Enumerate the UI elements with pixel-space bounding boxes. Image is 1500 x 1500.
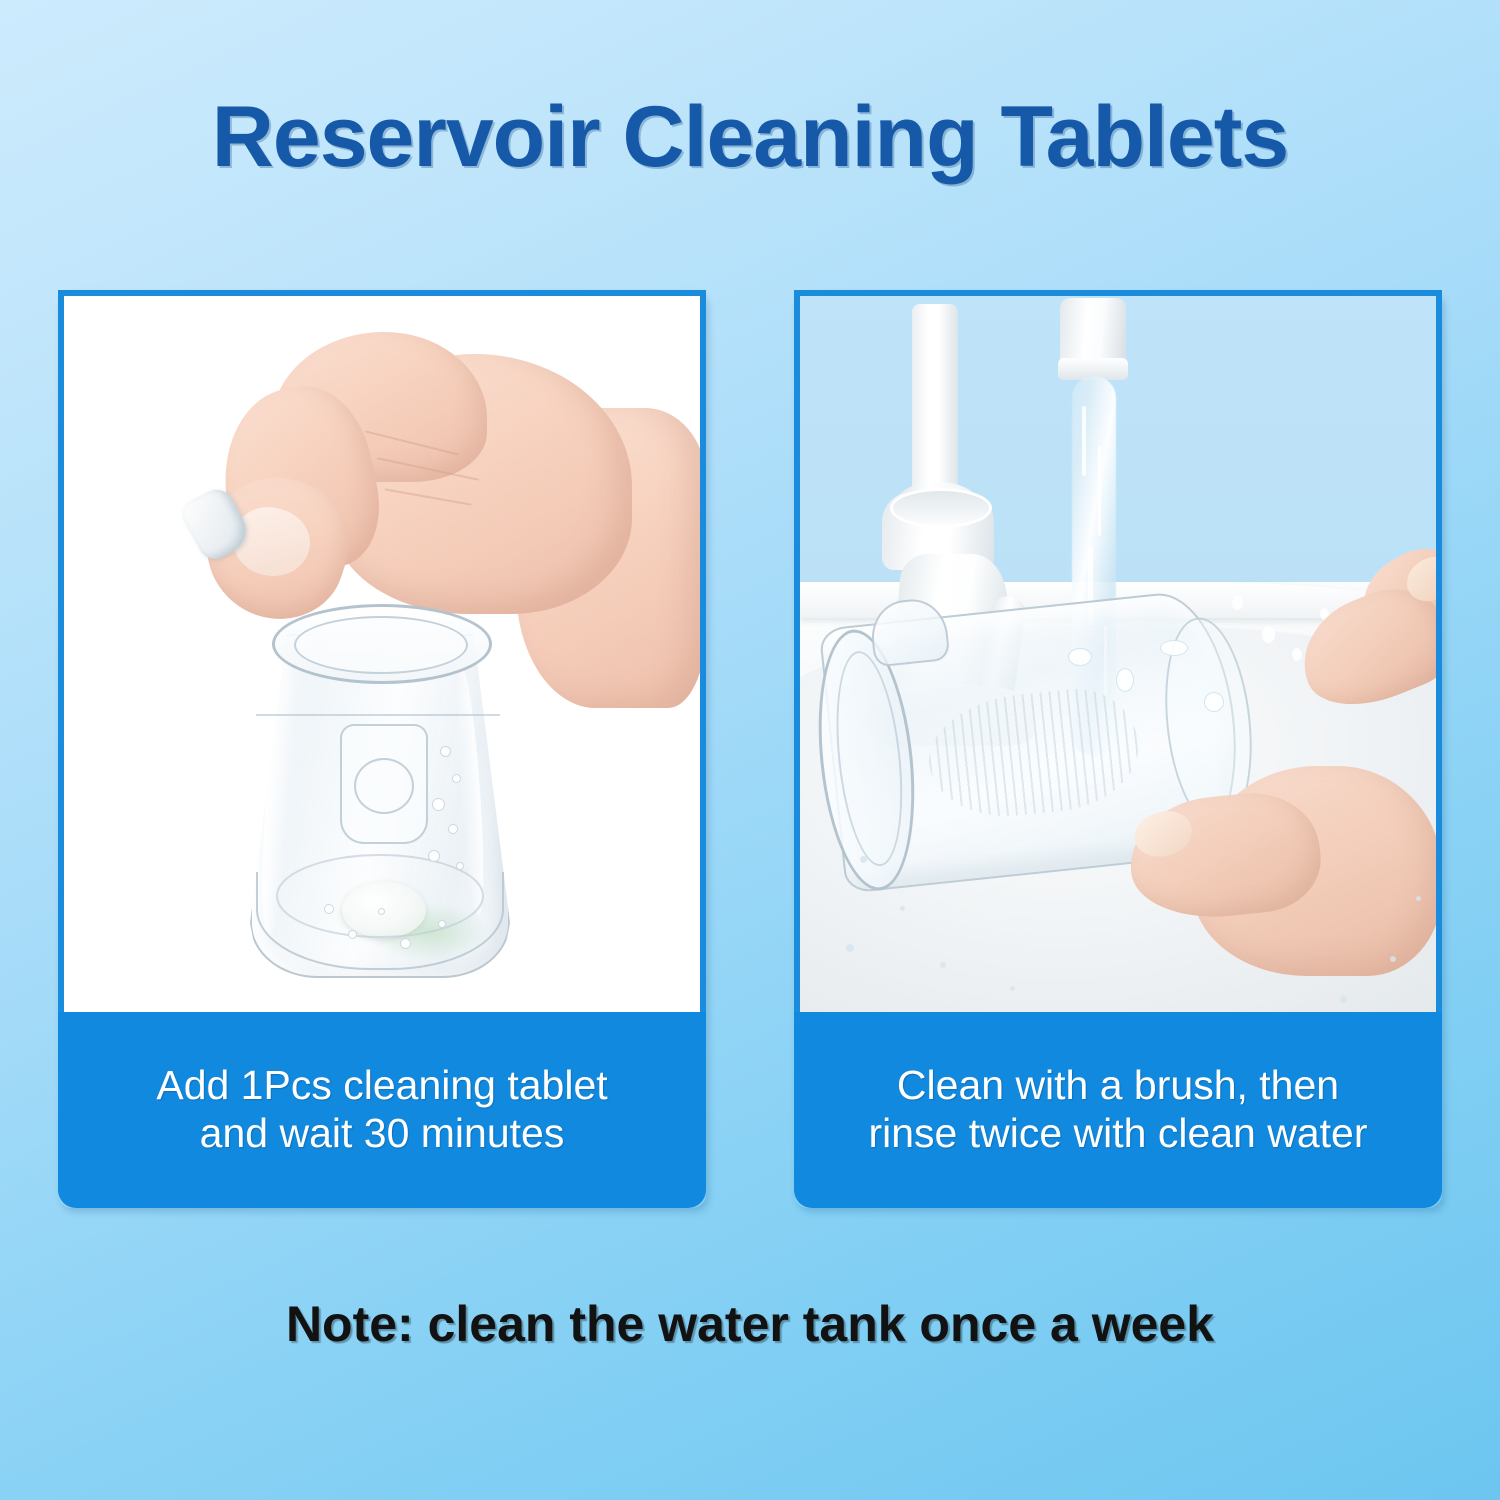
counter-water-speck: [940, 962, 946, 968]
fizz-bubble: [428, 850, 440, 862]
counter-water-speck: [1416, 896, 1421, 901]
counter-water-speck: [860, 856, 867, 863]
water-splash: [1160, 640, 1188, 656]
fizz-bubble: [432, 798, 445, 811]
stream-strand: [1098, 446, 1101, 536]
photo-scene-tablet-drop: [64, 296, 700, 1012]
water-splash: [1116, 668, 1134, 692]
counter-water-speck: [1010, 986, 1015, 991]
water-reservoir-tank: [232, 586, 524, 986]
caption-line-2: and wait 30 minutes: [156, 1110, 607, 1158]
fizz-bubble: [448, 824, 458, 834]
page-title: Reservoir Cleaning Tablets: [0, 92, 1500, 182]
step-photo-add-tablet: [58, 290, 706, 1012]
step-caption-add-tablet: Add 1Pcs cleaning tablet and wait 30 min…: [58, 1012, 706, 1208]
footer-note: Note: clean the water tank once a week: [0, 1295, 1500, 1353]
water-droplet: [1232, 596, 1243, 610]
counter-water-speck: [1390, 956, 1396, 962]
step-card-rinse: Clean with a brush, then rinse twice wit…: [794, 290, 1442, 1208]
faucet-collar-lip: [890, 488, 992, 528]
caption-line-1: Add 1Pcs cleaning tablet: [156, 1062, 607, 1110]
tank-rim-inner: [294, 616, 468, 674]
fizz-bubble: [438, 920, 446, 928]
counter-water-speck: [900, 906, 905, 911]
water-droplet: [1292, 648, 1302, 661]
fizz-bubble: [348, 930, 357, 939]
fizz-bubble: [378, 908, 385, 915]
step-card-add-tablet: Add 1Pcs cleaning tablet and wait 30 min…: [58, 290, 706, 1208]
counter-water-speck: [1340, 996, 1347, 1003]
faucet-spout: [912, 304, 958, 504]
fizz-bubble: [440, 746, 451, 757]
water-splash: [1204, 692, 1224, 712]
water-droplet: [1262, 626, 1275, 643]
fizz-bubble: [400, 938, 411, 949]
tank-water-line: [256, 714, 500, 716]
caption-line-1: Clean with a brush, then: [868, 1062, 1367, 1110]
tank-valve-port: [354, 758, 414, 814]
caption-line-2: rinse twice with clean water: [868, 1110, 1367, 1158]
fizz-bubble: [324, 904, 334, 914]
photo-scene-faucet-rinse: [800, 296, 1436, 1012]
water-splash: [1068, 648, 1092, 666]
step-caption-rinse: Clean with a brush, then rinse twice wit…: [794, 1012, 1442, 1208]
product-infographic: Reservoir Cleaning Tablets: [0, 0, 1500, 1500]
fizz-bubble: [456, 862, 464, 870]
step-photo-rinse: [794, 290, 1442, 1012]
stream-strand: [1082, 406, 1086, 476]
fizz-bubble: [452, 774, 461, 783]
counter-water-speck: [846, 944, 854, 952]
